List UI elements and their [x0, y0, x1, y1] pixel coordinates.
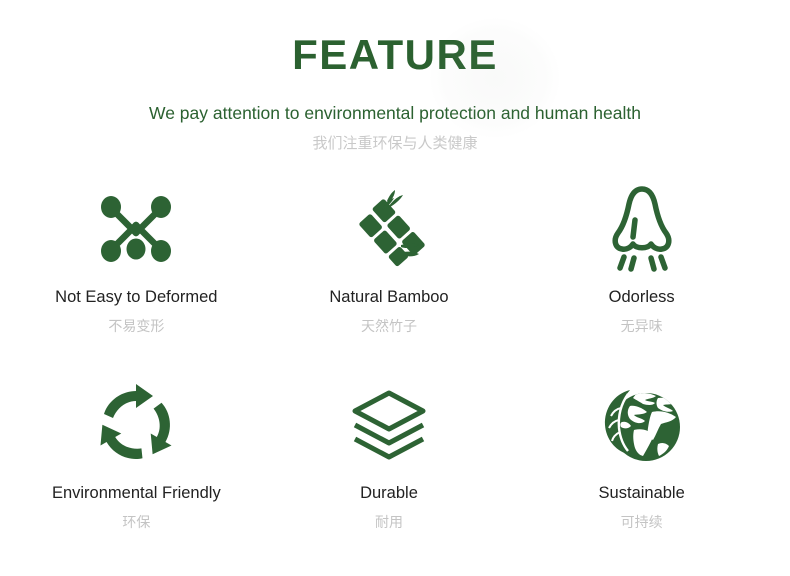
feature-item-environmental-friendly: Environmental Friendly 环保	[10, 377, 263, 573]
feature-label-en: Environmental Friendly	[52, 483, 221, 504]
feature-item-not-easy-to-deformed: Not Easy to Deformed 不易变形	[10, 181, 263, 377]
feature-section: FEATURE We pay attention to environmenta…	[0, 0, 790, 576]
globe-leaf-icon	[600, 377, 684, 473]
nose-icon	[602, 181, 682, 277]
feature-label-en: Not Easy to Deformed	[55, 287, 217, 308]
feature-label-cn: 环保	[122, 514, 150, 531]
layers-stack-icon	[348, 377, 430, 473]
feature-grid: Not Easy to Deformed 不易变形	[0, 181, 790, 573]
feature-label-en: Odorless	[609, 287, 675, 308]
subtitle-chinese: 我们注重环保与人类健康	[0, 124, 790, 153]
feature-label-en: Durable	[360, 483, 418, 504]
subtitle-english: We pay attention to environmental protec…	[0, 76, 790, 124]
feature-label-cn: 可持续	[621, 514, 663, 531]
recycle-icon	[94, 377, 178, 473]
feature-item-durable: Durable 耐用	[263, 377, 516, 573]
molecule-lattice-icon	[96, 181, 176, 277]
page-title: FEATURE	[0, 34, 790, 76]
section-header: FEATURE We pay attention to environmenta…	[0, 0, 790, 153]
feature-label-cn: 无异味	[621, 318, 663, 335]
feature-label-en: Sustainable	[599, 483, 685, 504]
feature-label-en: Natural Bamboo	[329, 287, 448, 308]
feature-item-natural-bamboo: Natural Bamboo 天然竹子	[263, 181, 516, 377]
feature-label-cn: 天然竹子	[361, 318, 417, 335]
feature-item-odorless: Odorless 无异味	[515, 181, 768, 377]
feature-label-cn: 不易变形	[108, 318, 164, 335]
bamboo-icon	[349, 181, 429, 277]
feature-label-cn: 耐用	[375, 514, 403, 531]
feature-item-sustainable: Sustainable 可持续	[515, 377, 768, 573]
